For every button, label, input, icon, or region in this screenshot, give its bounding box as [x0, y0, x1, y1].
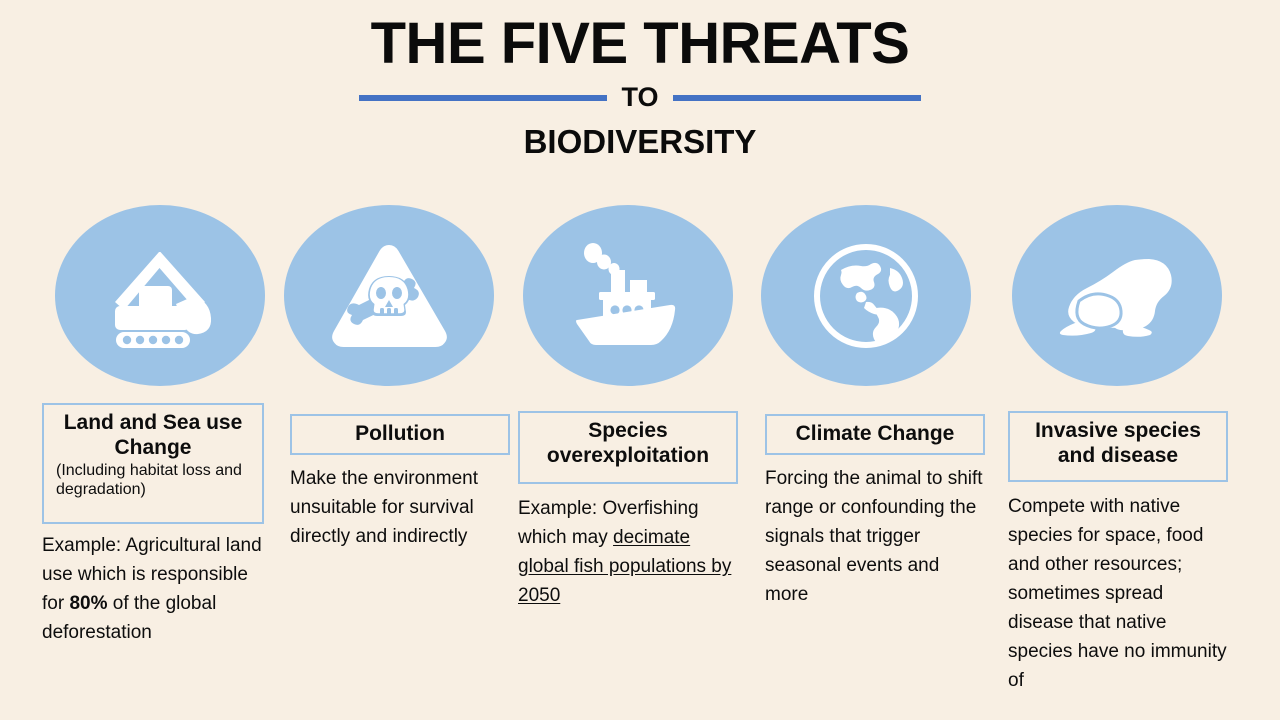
threat-body-5: Compete with native species for space, f…: [1008, 492, 1228, 695]
threat-icon-bubble-2: [284, 205, 494, 386]
threat-column-1: Land and Sea use Change (Including habit…: [42, 403, 264, 647]
threat-body-1: Example: Agricultural land use which is …: [42, 531, 264, 647]
threat-heading-2: Pollution: [298, 422, 502, 447]
fishing-boat-icon: [569, 240, 687, 352]
globe-icon: [810, 240, 922, 352]
threat-body-prefix-5: Compete with native species for space, f…: [1008, 496, 1227, 691]
threat-subheading-1: (Including habitat loss and degradation): [50, 461, 256, 499]
threat-column-4: Climate Change Forcing the animal to shi…: [765, 414, 985, 609]
threat-icon-bubble-3: [523, 205, 733, 386]
excavator-icon: [99, 244, 221, 348]
threat-icon-bubble-5: [1012, 205, 1222, 386]
title-connector: TO: [621, 84, 658, 113]
threat-title-box-3: Species overexploitation: [518, 411, 738, 484]
page-title: THE FIVE THREATS: [0, 14, 1280, 75]
threat-title-box-4: Climate Change: [765, 414, 985, 455]
threat-icon-bubble-4: [761, 205, 971, 386]
title-rule-left: [359, 95, 607, 101]
toxic-hazard-icon: [330, 243, 448, 349]
threat-heading-4: Climate Change: [773, 422, 977, 447]
threat-body-prefix-4: Forcing the animal to shift range or con…: [765, 468, 983, 605]
threat-column-3: Species overexploitation Example: Overfi…: [518, 411, 738, 610]
title-block: THE FIVE THREATS TO BIODIVERSITY: [0, 0, 1280, 180]
threat-body-3: Example: Overfishing which may decimate …: [518, 494, 738, 610]
title-rule-right: [673, 95, 921, 101]
threat-title-box-1: Land and Sea use Change (Including habit…: [42, 403, 264, 524]
threat-body-prefix-2: Make the environment unsuitable for surv…: [290, 468, 478, 547]
threat-body-2: Make the environment unsuitable for surv…: [290, 464, 510, 551]
page-subtitle: BIODIVERSITY: [0, 123, 1280, 161]
title-divider-row: TO: [0, 78, 1280, 118]
threat-title-box-2: Pollution: [290, 414, 510, 455]
threat-body-4: Forcing the animal to shift range or con…: [765, 464, 985, 609]
threat-heading-1: Land and Sea use Change: [50, 411, 256, 460]
threat-column-2: Pollution Make the environment unsuitabl…: [290, 414, 510, 551]
threat-heading-5: Invasive species and disease: [1016, 419, 1220, 468]
threat-icon-bubble-1: [55, 205, 265, 386]
threat-column-5: Invasive species and disease Compete wit…: [1008, 411, 1228, 695]
threat-title-box-5: Invasive species and disease: [1008, 411, 1228, 482]
threat-body-bold-1: 80%: [69, 593, 107, 614]
threat-heading-3: Species overexploitation: [526, 419, 730, 468]
frog-icon: [1053, 249, 1181, 343]
